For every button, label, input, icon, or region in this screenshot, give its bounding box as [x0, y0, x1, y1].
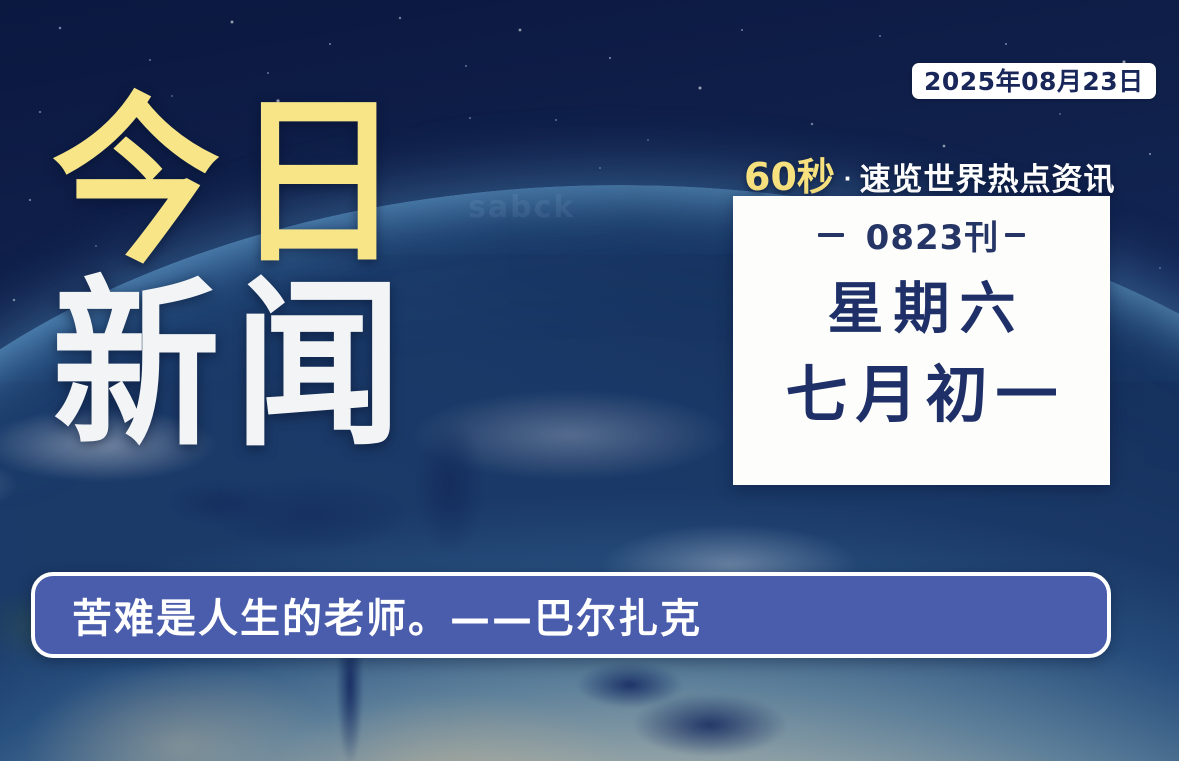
quote-text: 苦难是人生的老师。——巴尔扎克 [72, 586, 702, 644]
quote-banner: 苦难是人生的老师。——巴尔扎克 [31, 572, 1111, 658]
lunar-date-label: 七月初一 [777, 362, 1065, 427]
date-info-card: 0823刊 星期六 七月初一 [733, 196, 1110, 485]
tagline: 60秒 · 速览世界热点资讯 [744, 146, 1116, 201]
news-poster: sabck 2025年08月23日 今日 新闻 60秒 · 速览世界热点资讯 0… [0, 0, 1179, 761]
issue-number-label: 0823刊 [866, 210, 1000, 259]
tagline-seconds: 60秒 [744, 146, 835, 201]
page-title-line-news: 新闻 [52, 279, 672, 453]
page-title: 今日 新闻 [52, 96, 672, 441]
issue-dash-left-icon [818, 233, 844, 237]
page-title-line-today: 今日 [52, 96, 672, 270]
tagline-separator: · [844, 163, 853, 194]
date-badge: 2025年08月23日 [912, 63, 1156, 99]
date-badge-label: 2025年08月23日 [924, 69, 1144, 94]
issue-number-row: 0823刊 [818, 210, 1026, 259]
weekday-label: 星期六 [818, 281, 1026, 340]
tagline-description: 速览世界热点资讯 [860, 154, 1116, 199]
issue-dash-right-icon [1005, 233, 1025, 237]
